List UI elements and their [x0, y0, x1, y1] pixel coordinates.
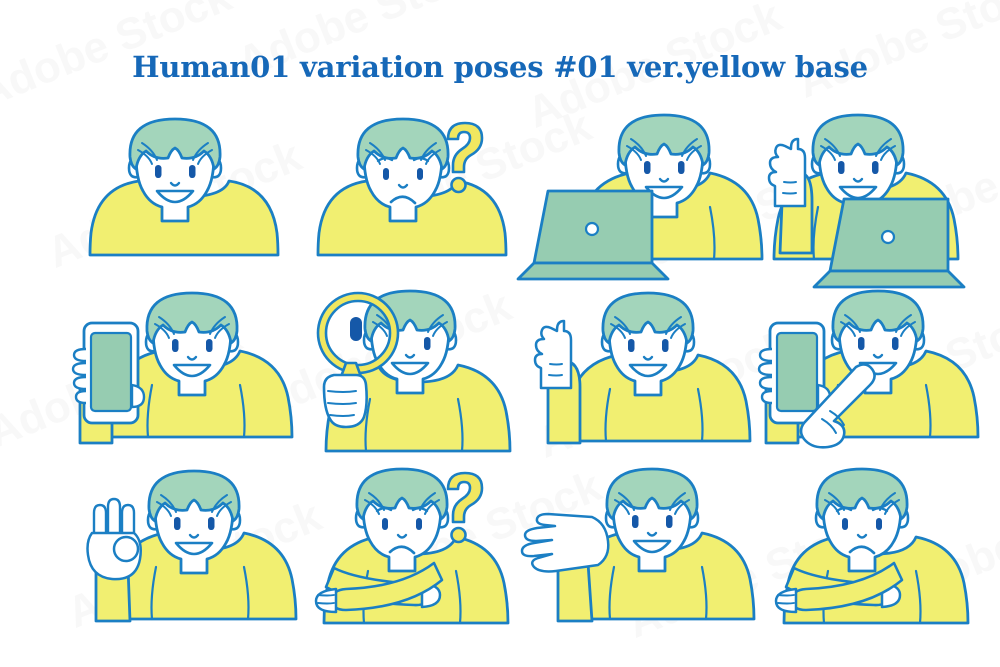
figure-cell-open-palm-presenting — [516, 461, 746, 641]
illustration-confused-question-mark — [288, 105, 518, 285]
figure-cell-ok-hand-sign — [60, 461, 290, 641]
magnified-eye — [350, 317, 362, 341]
gripping-hand — [324, 375, 367, 427]
illustration-showing-smartphone — [60, 283, 290, 463]
figure-cell-arms-crossed-question-mark — [288, 461, 518, 641]
illustration-ok-hand-sign — [60, 461, 290, 641]
illustration-smiling-bust — [60, 105, 290, 285]
figure-cell-showing-smartphone — [60, 283, 290, 463]
smartphone-icon — [73, 323, 144, 423]
illustration-sheet: Adobe Stock Adobe Stock Adobe Stock Adob… — [0, 0, 1000, 667]
figure-cell-pointing-up-with-laptop — [744, 105, 974, 285]
question-mark-icon — [448, 123, 482, 192]
figure-cell-tapping-smartphone — [744, 283, 974, 463]
figure-cell-index-finger-up — [516, 283, 746, 463]
figure-cell-looking-through-magnifier — [288, 283, 518, 463]
open-palm-icon — [522, 514, 608, 572]
pointing-hand-icon — [535, 321, 571, 388]
laptop-icon — [518, 191, 668, 279]
figure-cell-smiling-bust — [60, 105, 290, 285]
figure-cell-arms-crossed-troubled — [744, 461, 974, 641]
figure-cell-working-on-laptop — [516, 105, 746, 285]
ok-hand-icon — [88, 499, 141, 579]
figure-cell-confused-question-mark — [288, 105, 518, 285]
illustration-index-finger-up — [516, 283, 746, 463]
question-mark-icon — [448, 473, 482, 542]
pointing-hand-icon — [769, 139, 805, 206]
illustration-arms-crossed-question-mark — [288, 461, 518, 641]
illustration-arms-crossed-troubled — [744, 461, 974, 641]
illustration-tapping-smartphone — [744, 283, 974, 463]
illustration-pointing-up-with-laptop — [744, 105, 974, 285]
illustration-working-on-laptop — [516, 105, 746, 285]
page-title: Human01 variation poses #01 ver.yellow b… — [0, 50, 1000, 84]
illustration-open-palm-presenting — [516, 461, 746, 641]
illustration-looking-through-magnifier — [288, 283, 518, 463]
